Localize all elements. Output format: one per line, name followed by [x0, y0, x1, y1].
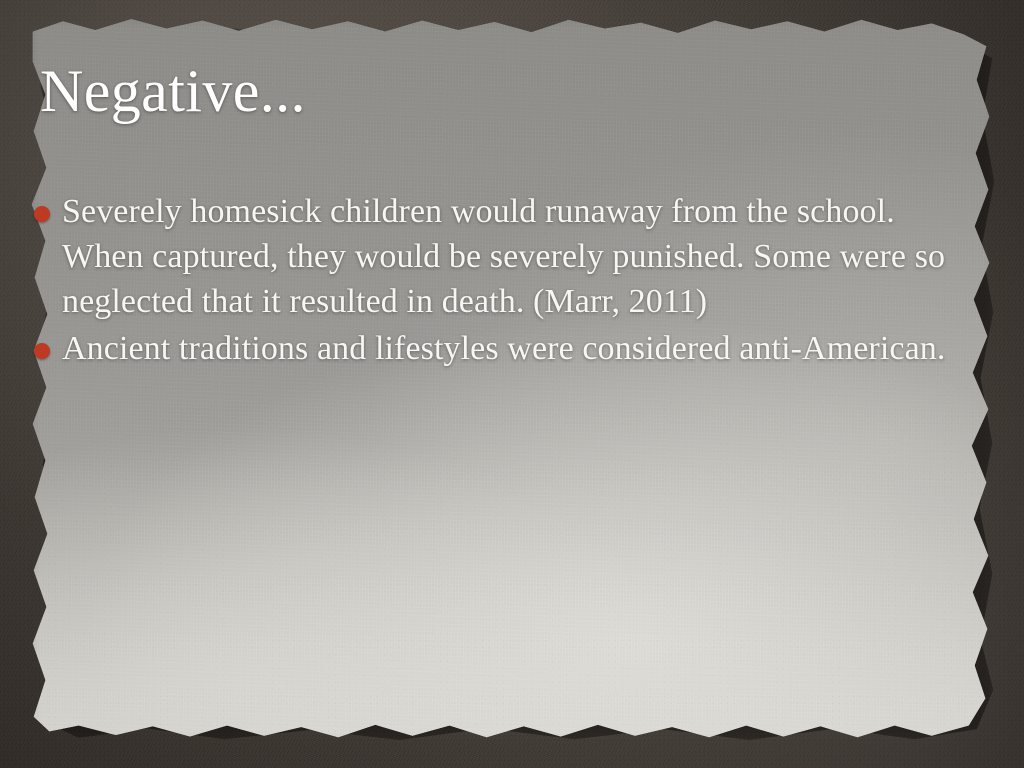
bullet-text: Ancient traditions and lifestyles were c…	[62, 327, 954, 372]
slide-title: Negative...	[40, 60, 306, 124]
bullet-text: Severely homesick children would runaway…	[62, 190, 954, 325]
filled-circle-bullet-icon	[34, 206, 50, 222]
filled-circle-bullet-icon	[34, 343, 50, 359]
slide-content: Negative... Severely homesick children w…	[0, 0, 1024, 768]
list-item: Severely homesick children would runaway…	[34, 190, 954, 325]
bullet-list: Severely homesick children would runaway…	[34, 190, 954, 374]
list-item: Ancient traditions and lifestyles were c…	[34, 327, 954, 372]
slide-canvas: Negative... Severely homesick children w…	[0, 0, 1024, 768]
